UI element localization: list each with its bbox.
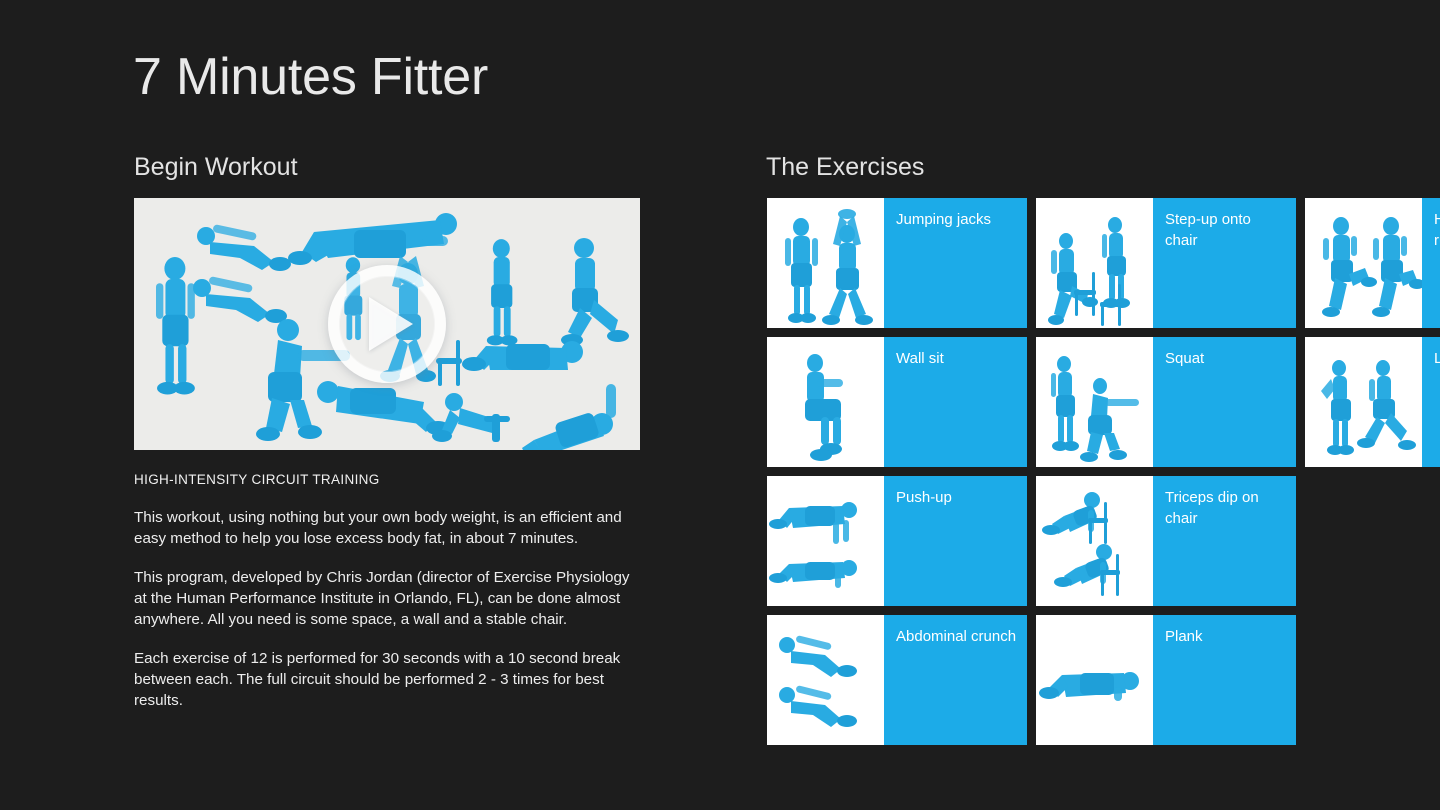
squat-icon — [1036, 337, 1153, 467]
exercise-tile-label: Plank — [1153, 615, 1296, 745]
exercise-tile-label: Step-up onto chair — [1153, 198, 1296, 328]
video-kicker: HIGH-INTENSITY CIRCUIT TRAINING — [134, 472, 640, 489]
triceps-dip-on-chair-icon — [1036, 476, 1153, 606]
section-header-begin-workout: Begin Workout — [134, 154, 298, 182]
exercise-tile-high-knees-running-in-place[interactable]: High knees running in place — [1305, 198, 1440, 328]
wall-sit-icon — [767, 337, 884, 467]
description-paragraph-1: This workout, using nothing but your own… — [134, 507, 640, 549]
exercise-row: Abdominal crunch Plan — [767, 615, 1440, 745]
high-knees-running-icon — [1305, 198, 1422, 328]
begin-workout-panel: HIGH-INTENSITY CIRCUIT TRAINING This wor… — [134, 198, 640, 711]
exercise-tile-label: Squat — [1153, 337, 1296, 467]
workout-video-thumbnail[interactable] — [134, 198, 640, 450]
exercise-tile-plank[interactable]: Plank — [1036, 615, 1296, 745]
page-title: 7 Minutes Fitter — [133, 49, 488, 106]
section-header-the-exercises: The Exercises — [766, 154, 924, 182]
exercise-row: Jumping jacks — [767, 198, 1440, 328]
jumping-jacks-icon — [767, 198, 884, 328]
abdominal-crunch-icon — [767, 615, 884, 745]
exercise-row: Push-up — [767, 476, 1440, 606]
exercise-grid: Jumping jacks — [767, 198, 1440, 754]
exercise-tile-label: High knees running in place — [1422, 198, 1440, 328]
app-root: 7 Minutes Fitter Begin Workout The Exerc… — [0, 0, 1440, 810]
exercise-tile-label: Push-up — [884, 476, 1027, 606]
lunge-icon — [1305, 337, 1422, 467]
exercise-tile-jumping-jacks[interactable]: Jumping jacks — [767, 198, 1027, 328]
exercise-tile-label: Abdominal crunch — [884, 615, 1027, 745]
exercise-tile-squat[interactable]: Squat — [1036, 337, 1296, 467]
exercise-tile-step-up-onto-chair[interactable]: Step-up onto chair — [1036, 198, 1296, 328]
play-icon[interactable] — [328, 265, 446, 383]
exercise-tile-lunge[interactable]: Lunge — [1305, 337, 1440, 467]
exercise-tile-label: Lunge — [1422, 337, 1440, 467]
exercise-tile-label: Triceps dip on chair — [1153, 476, 1296, 606]
exercise-tile-triceps-dip-on-chair[interactable]: Triceps dip on chair — [1036, 476, 1296, 606]
step-up-onto-chair-icon — [1036, 198, 1153, 328]
exercise-tile-label: Jumping jacks — [884, 198, 1027, 328]
description-paragraph-3: Each exercise of 12 is performed for 30 … — [134, 648, 640, 711]
push-up-icon — [767, 476, 884, 606]
exercise-tile-wall-sit[interactable]: Wall sit — [767, 337, 1027, 467]
play-triangle — [369, 297, 413, 351]
exercise-row: Wall sit — [767, 337, 1440, 467]
plank-icon — [1036, 615, 1153, 745]
description-paragraph-2: This program, developed by Chris Jordan … — [134, 567, 640, 630]
exercise-tile-push-up[interactable]: Push-up — [767, 476, 1027, 606]
exercise-tile-abdominal-crunch[interactable]: Abdominal crunch — [767, 615, 1027, 745]
exercise-tile-label: Wall sit — [884, 337, 1027, 467]
